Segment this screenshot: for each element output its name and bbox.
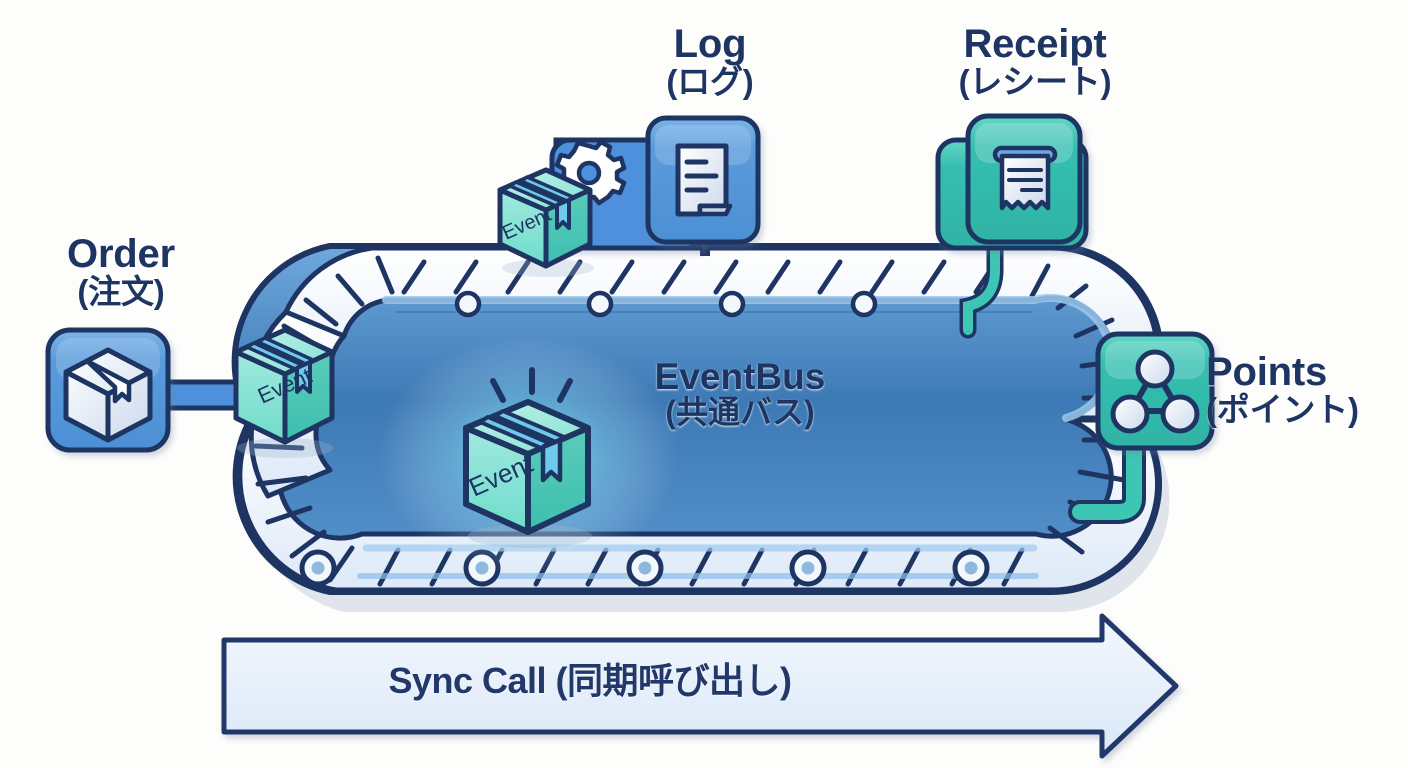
belt-roller [721, 293, 743, 315]
diagram-canvas: Event Event [0, 0, 1408, 768]
document-icon [678, 146, 730, 214]
event-box-center[interactable]: Event [378, 335, 678, 575]
belt-roller [853, 293, 875, 315]
receipt-icon [995, 148, 1055, 208]
belt-roller [589, 293, 611, 315]
package-box-icon [66, 350, 150, 440]
node-order[interactable] [48, 330, 168, 450]
node-points[interactable] [1098, 334, 1212, 448]
belt-roller [457, 293, 479, 315]
node-receipt[interactable] [938, 116, 1086, 248]
scene-svg: Event Event [0, 0, 1408, 768]
sync-call-arrow [224, 616, 1176, 756]
